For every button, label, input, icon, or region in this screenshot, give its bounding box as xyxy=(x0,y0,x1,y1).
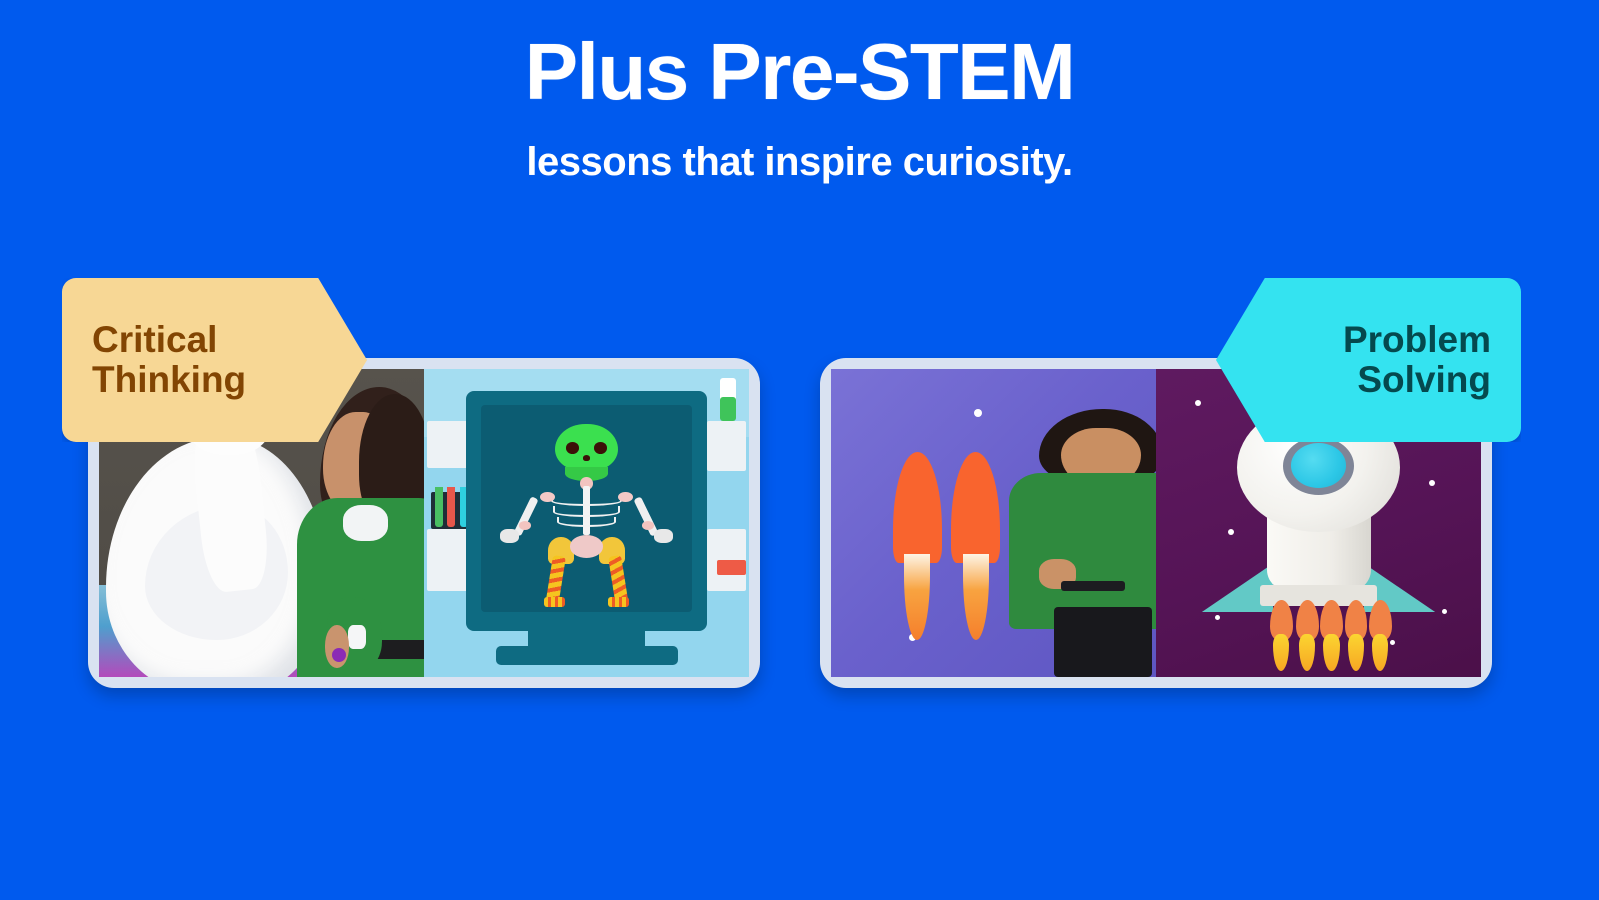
test-tube xyxy=(435,487,443,528)
presenter-prop xyxy=(332,648,346,662)
skeleton-foot-right xyxy=(608,597,629,607)
skeleton-foot-left xyxy=(544,597,565,607)
presenter-collar xyxy=(343,505,389,542)
badge-label-line2: Thinking xyxy=(92,360,367,400)
skeleton-nose xyxy=(583,455,591,461)
badge-label-line2: Solving xyxy=(1357,360,1491,400)
skeleton-skull xyxy=(555,424,618,472)
rocket-window xyxy=(1291,443,1346,488)
skeleton-hand-right xyxy=(654,529,673,543)
star xyxy=(1228,529,1234,535)
lab-monitor xyxy=(466,391,707,631)
monitor-base xyxy=(496,646,678,664)
presenter-prop xyxy=(1061,581,1125,592)
skeleton-elbow-left xyxy=(519,521,532,530)
star xyxy=(974,409,982,417)
feature-cards-row: Critical Thinking xyxy=(0,0,1599,900)
skeleton-rib xyxy=(551,496,623,506)
lab-bottle-red xyxy=(717,560,746,575)
skeleton-elbow-right xyxy=(642,521,655,530)
test-tube xyxy=(447,487,455,528)
presenter-jacket xyxy=(1009,473,1156,628)
badge-label-line1: Problem xyxy=(1343,320,1491,360)
skeleton-rib xyxy=(553,506,621,516)
presenter-cuff xyxy=(348,625,366,650)
skeleton-eye-left xyxy=(566,442,580,454)
skeleton-pelvis xyxy=(570,535,604,558)
lab-bottle-green xyxy=(720,397,736,422)
skeleton-rib xyxy=(557,517,616,527)
badge-label-line1: Critical xyxy=(92,320,367,360)
skeleton-eye-right xyxy=(594,442,608,454)
badge-critical-thinking[interactable]: Critical Thinking xyxy=(62,278,367,442)
monitor-screen xyxy=(481,405,693,612)
lab-shelf xyxy=(707,421,746,470)
star xyxy=(1390,640,1395,645)
star xyxy=(1195,400,1201,406)
panel-skeleton-xray xyxy=(424,369,749,677)
skeleton-hand-left xyxy=(500,529,519,543)
skeleton-shoulder-right xyxy=(618,492,633,502)
presenter-pants xyxy=(1054,607,1152,677)
presenter-right xyxy=(994,409,1157,677)
star xyxy=(1215,615,1220,620)
badge-problem-solving[interactable]: Problem Solving xyxy=(1216,278,1521,442)
skeleton-shoulder-left xyxy=(540,492,555,502)
star xyxy=(1429,480,1435,486)
panel-space-presenter xyxy=(831,369,1156,677)
